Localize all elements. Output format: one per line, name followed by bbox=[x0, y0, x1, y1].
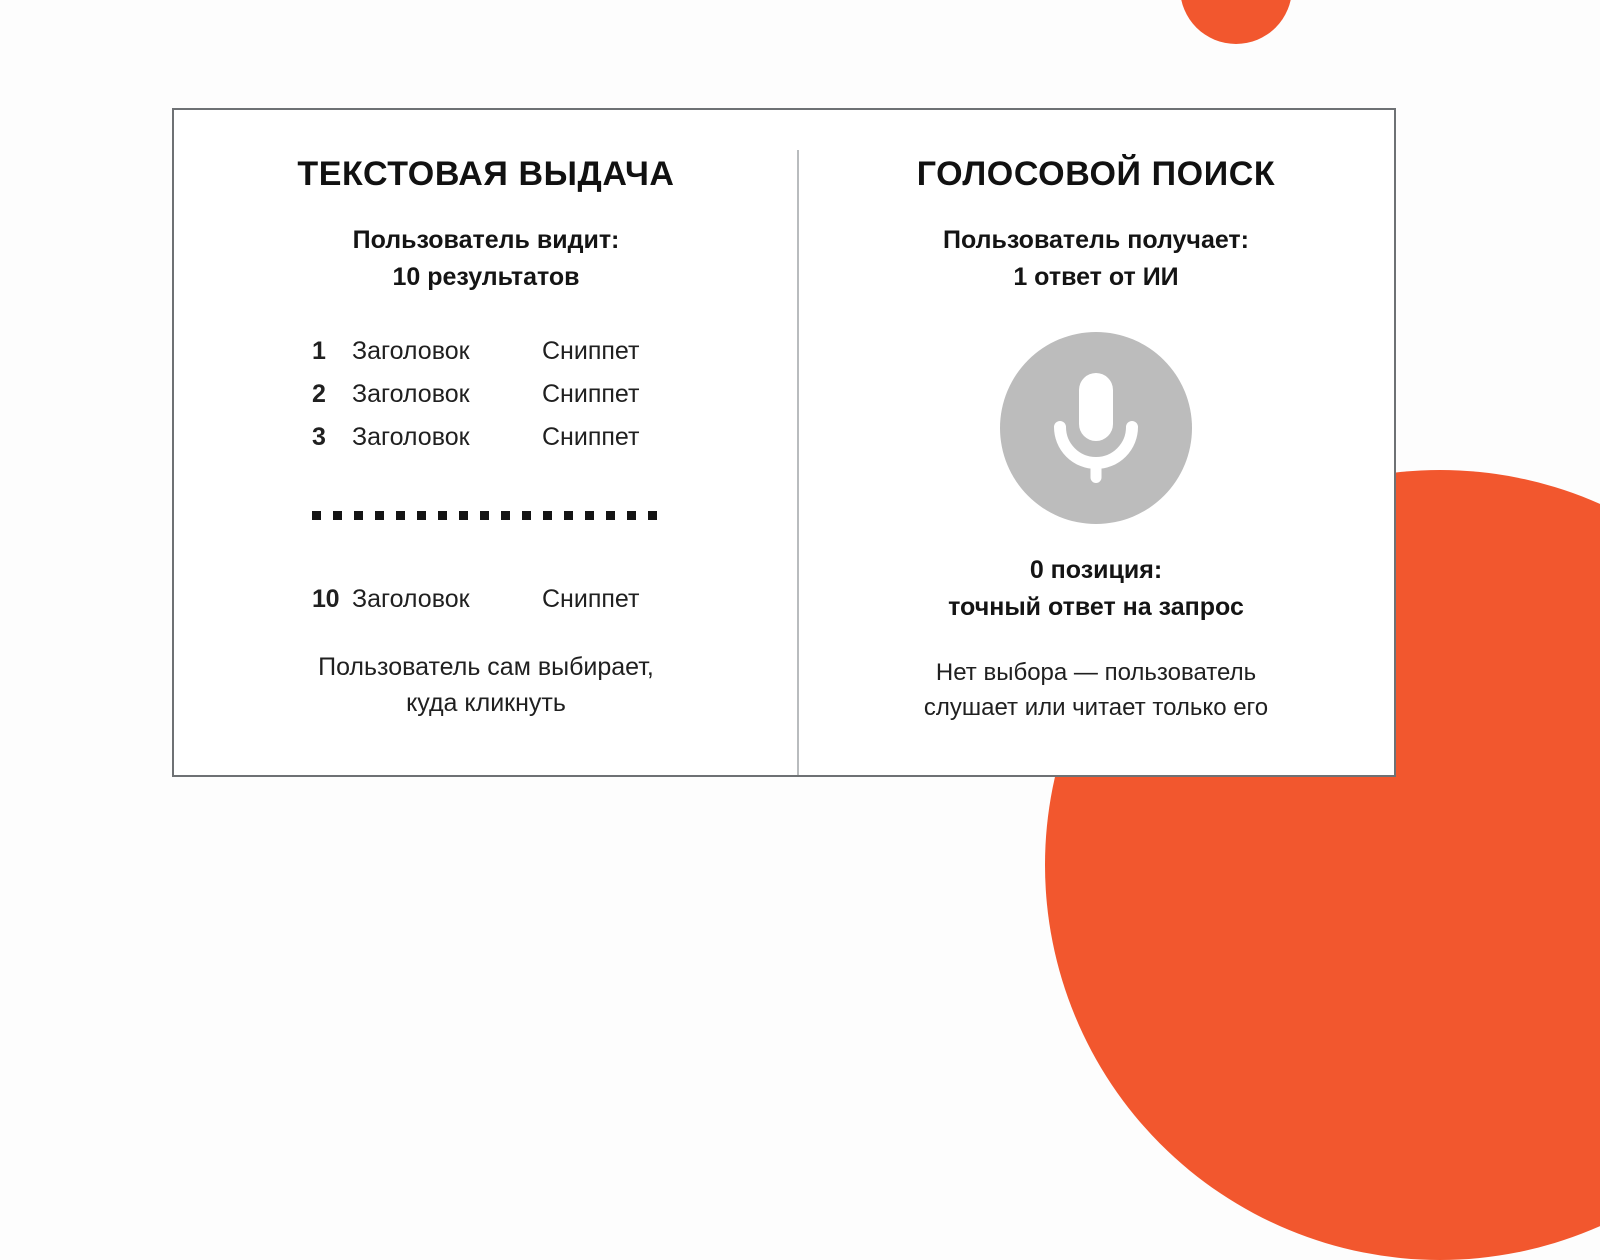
result-rank: 1 bbox=[312, 330, 352, 373]
panel-voice-search: ГОЛОСОВОЙ ПОИСК Пользователь получает: 1… bbox=[798, 110, 1394, 775]
result-rank: 2 bbox=[312, 373, 352, 416]
dotted-separator bbox=[204, 511, 768, 520]
list-item: 2 Заголовок Сниппет bbox=[204, 373, 768, 416]
result-snippet: Сниппет bbox=[542, 330, 639, 373]
result-snippet: Сниппет bbox=[542, 578, 639, 621]
panel-subtitle-text-search: Пользователь видит: 10 результатов bbox=[204, 222, 768, 296]
dotted-line-icon bbox=[312, 511, 668, 520]
panel-subtitle-voice-search: Пользователь получает: 1 ответ от ИИ bbox=[832, 222, 1360, 296]
footnote-line-2: куда кликнуть bbox=[406, 689, 566, 717]
panel-divider bbox=[797, 150, 799, 775]
answer-line-2: точный ответ на запрос bbox=[948, 593, 1244, 621]
search-results-last: 10 Заголовок Сниппет bbox=[204, 578, 768, 621]
panel-title-text-search: ТЕКСТОВАЯ ВЫДАЧА bbox=[204, 155, 768, 194]
result-rank: 10 bbox=[312, 578, 352, 621]
orange-circle-top-icon bbox=[1180, 0, 1292, 44]
result-title: Заголовок bbox=[352, 330, 542, 373]
panel-footnote-voice-search: Нет выбора — пользователь слушает или чи… bbox=[832, 656, 1360, 726]
microphone-icon bbox=[1000, 332, 1192, 524]
result-snippet: Сниппет bbox=[542, 416, 639, 459]
subtitle-line-2: 1 ответ от ИИ bbox=[1013, 263, 1178, 291]
subtitle-line-2: 10 результатов bbox=[392, 263, 579, 291]
result-title: Заголовок bbox=[352, 578, 542, 621]
footnote-line-2: слушает или читает только его bbox=[924, 694, 1268, 721]
subtitle-line-1: Пользователь видит: bbox=[353, 226, 620, 254]
result-rank: 3 bbox=[312, 416, 352, 459]
voice-answer-position: 0 позиция: точный ответ на запрос bbox=[832, 552, 1360, 626]
panel-footnote-text-search: Пользователь сам выбирает, куда кликнуть bbox=[204, 649, 768, 722]
subtitle-line-1: Пользователь получает: bbox=[943, 226, 1249, 254]
result-title: Заголовок bbox=[352, 373, 542, 416]
comparison-card: ТЕКСТОВАЯ ВЫДАЧА Пользователь видит: 10 … bbox=[172, 108, 1396, 777]
list-item: 1 Заголовок Сниппет bbox=[204, 330, 768, 373]
footnote-line-1: Пользователь сам выбирает, bbox=[318, 653, 654, 681]
list-item: 10 Заголовок Сниппет bbox=[204, 578, 768, 621]
search-results-list: 1 Заголовок Сниппет 2 Заголовок Сниппет … bbox=[204, 330, 768, 459]
list-item: 3 Заголовок Сниппет bbox=[204, 416, 768, 459]
result-snippet: Сниппет bbox=[542, 373, 639, 416]
panel-text-search: ТЕКСТОВАЯ ВЫДАЧА Пользователь видит: 10 … bbox=[174, 110, 798, 775]
panel-title-voice-search: ГОЛОСОВОЙ ПОИСК bbox=[832, 155, 1360, 194]
footnote-line-1: Нет выбора — пользователь bbox=[936, 659, 1256, 686]
answer-line-1: 0 позиция: bbox=[1030, 556, 1162, 584]
microphone-badge bbox=[832, 332, 1360, 524]
result-title: Заголовок bbox=[352, 416, 542, 459]
